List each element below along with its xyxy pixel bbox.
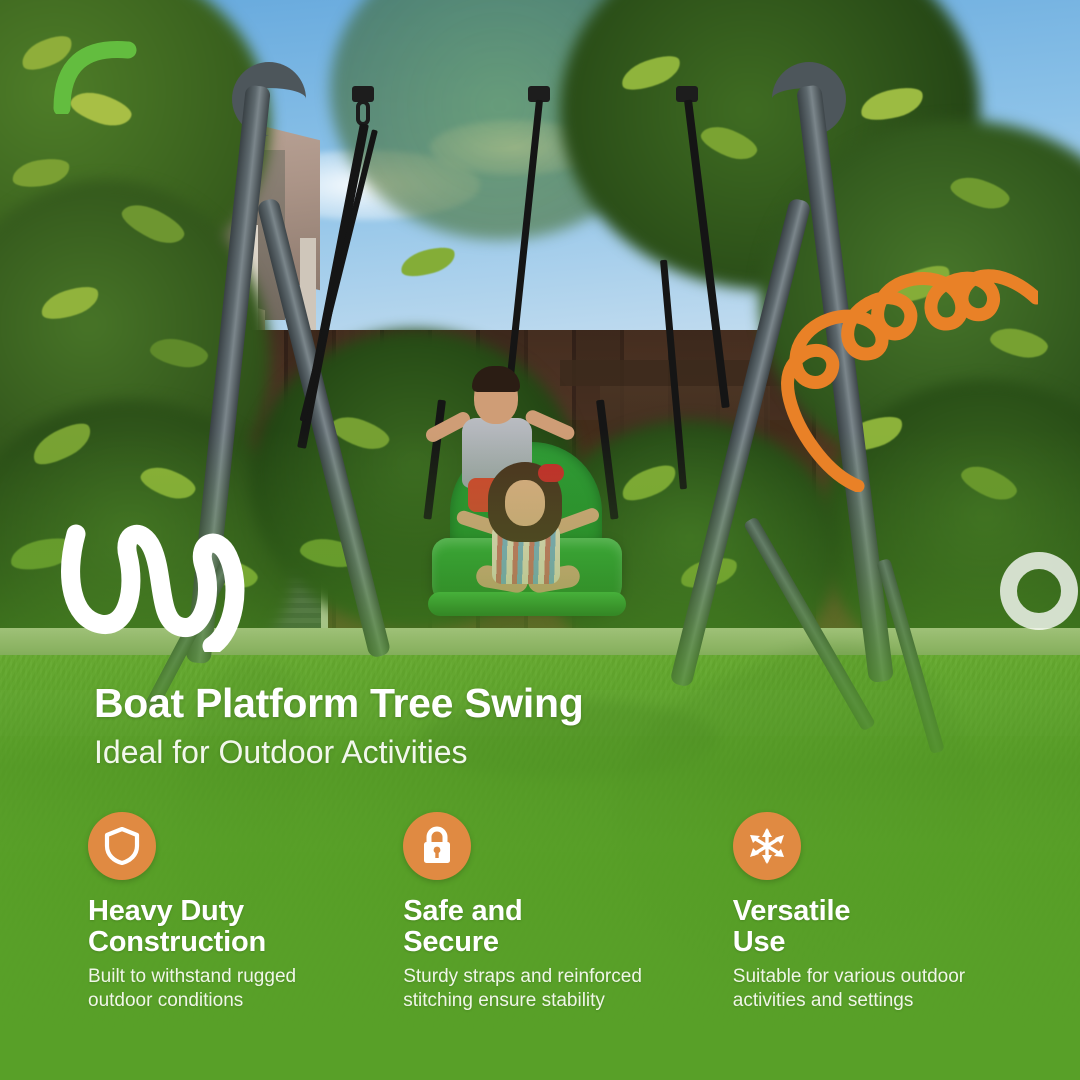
feature-desc-line2: activities and settings	[733, 990, 914, 1011]
girl-face	[505, 480, 545, 526]
lock-icon	[420, 826, 454, 866]
feature-desc-line1: Suitable for various outdoor	[733, 966, 965, 987]
green-arc-decoration	[52, 28, 138, 114]
feature-icon-badge	[403, 812, 471, 880]
shield-icon	[104, 827, 140, 865]
page-subtitle: Ideal for Outdoor Activities	[94, 735, 994, 770]
feature-desc-line1: Built to withstand rugged	[88, 966, 296, 987]
feature-title-line1: Safe and	[403, 895, 522, 927]
feature-safe-and-secure: Safe and Secure Sturdy straps and reinfo…	[403, 812, 733, 1014]
orange-loop-scribble-decoration	[778, 262, 1038, 492]
feature-title-line2: Secure	[403, 926, 499, 958]
feature-title-line1: Heavy Duty	[88, 895, 244, 927]
feature-description: Built to withstand rugged outdoor condit…	[88, 965, 403, 1014]
feature-title: Safe and Secure	[403, 896, 733, 958]
feature-title: Versatile Use	[733, 896, 1048, 958]
feature-icon-badge	[733, 812, 801, 880]
feature-title-line2: Use	[733, 926, 786, 958]
feature-description: Sturdy straps and reinforced stitching e…	[403, 965, 733, 1014]
feature-heavy-duty-construction: Heavy Duty Construction Built to withsta…	[88, 812, 403, 1014]
feature-desc-line2: outdoor conditions	[88, 990, 243, 1011]
feature-desc-line1: Sturdy straps and reinforced	[403, 966, 642, 987]
feature-icon-badge	[88, 812, 156, 880]
page-title: Boat Platform Tree Swing	[94, 682, 994, 725]
feature-title-line2: Construction	[88, 926, 266, 958]
seat-front-rim	[428, 592, 626, 616]
feature-title-line1: Versatile	[733, 895, 851, 927]
move-arrows-icon	[748, 827, 786, 865]
feature-desc-line2: stitching ensure stability	[403, 990, 605, 1011]
feature-title: Heavy Duty Construction	[88, 896, 403, 958]
carabiner-icon	[356, 100, 370, 126]
product-marketing-image: Boat Platform Tree Swing Ideal for Outdo…	[0, 0, 1080, 1080]
white-cursive-squiggle-decoration	[58, 522, 278, 652]
hero-text-block: Boat Platform Tree Swing Ideal for Outdo…	[94, 682, 994, 771]
girl-hair-bow	[538, 464, 564, 482]
feature-description: Suitable for various outdoor activities …	[733, 965, 1048, 1014]
feature-list: Heavy Duty Construction Built to withsta…	[88, 812, 1048, 1014]
feature-versatile-use: Versatile Use Suitable for various outdo…	[733, 812, 1048, 1014]
white-ring-decoration	[1000, 552, 1078, 630]
